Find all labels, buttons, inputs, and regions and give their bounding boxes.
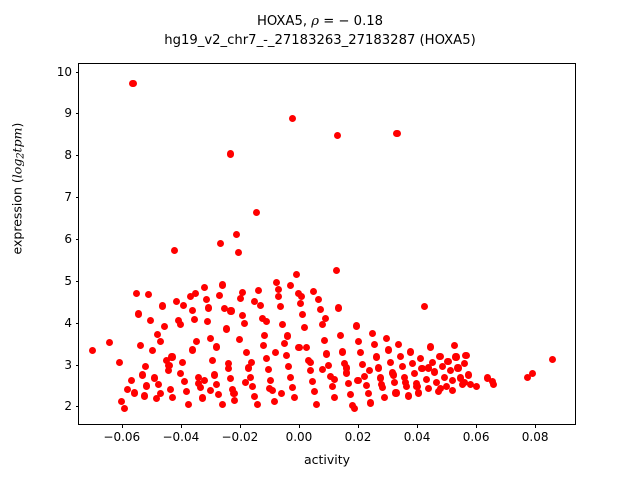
y-tick-label: 8 bbox=[64, 149, 72, 161]
scatter-point bbox=[309, 378, 316, 385]
scatter-point bbox=[353, 322, 360, 329]
scatter-point bbox=[287, 374, 294, 381]
scatter-point bbox=[248, 359, 255, 366]
scatter-point bbox=[413, 383, 420, 390]
scatter-point bbox=[284, 332, 291, 339]
scatter-point bbox=[490, 381, 497, 388]
x-axis-label: activity bbox=[78, 452, 576, 467]
scatter-point bbox=[417, 355, 424, 362]
scatter-point bbox=[139, 371, 146, 378]
scatter-point bbox=[207, 335, 214, 342]
scatter-point bbox=[179, 359, 186, 366]
scatter-point bbox=[209, 357, 216, 364]
title-gene: HOXA5, bbox=[257, 14, 311, 29]
scatter-point bbox=[367, 399, 374, 406]
scatter-point bbox=[216, 292, 223, 299]
scatter-point bbox=[447, 367, 454, 374]
y-tick-mark bbox=[76, 113, 80, 114]
scatter-point bbox=[325, 362, 332, 369]
scatter-point bbox=[263, 318, 270, 325]
scatter-point bbox=[213, 381, 220, 388]
scatter-point bbox=[277, 303, 284, 310]
scatter-point bbox=[135, 310, 142, 317]
scatter-point bbox=[301, 324, 308, 331]
scatter-point bbox=[203, 296, 210, 303]
scatter-point bbox=[157, 338, 164, 345]
scatter-point bbox=[437, 385, 444, 392]
y-tick-label: 5 bbox=[64, 275, 72, 287]
x-tick-label: 0.06 bbox=[463, 431, 490, 443]
y-tick-mark bbox=[76, 72, 80, 73]
x-tick-label: 0.02 bbox=[345, 431, 372, 443]
scatter-point bbox=[239, 289, 246, 296]
ylabel-tpm: tpm bbox=[9, 128, 24, 153]
y-tick-label: 7 bbox=[64, 191, 72, 203]
x-tick-label: −0.06 bbox=[103, 431, 140, 443]
scatter-point bbox=[267, 377, 274, 384]
scatter-point bbox=[289, 384, 296, 391]
scatter-point bbox=[339, 348, 346, 355]
y-tick-mark bbox=[76, 281, 80, 282]
scatter-point bbox=[211, 371, 218, 378]
title-line-2: hg19_v2_chr7_-_27183263_27183287 (HOXA5) bbox=[0, 31, 640, 50]
y-tick-label: 9 bbox=[64, 107, 72, 119]
scatter-point bbox=[89, 347, 96, 354]
scatter-point bbox=[289, 115, 296, 122]
scatter-point bbox=[393, 130, 400, 137]
scatter-point bbox=[363, 382, 370, 389]
scatter-point bbox=[357, 349, 364, 356]
scatter-point bbox=[149, 347, 156, 354]
scatter-point bbox=[118, 398, 125, 405]
scatter-point bbox=[407, 348, 414, 355]
x-tick-mark bbox=[299, 424, 300, 428]
x-tick-label: −0.04 bbox=[162, 431, 199, 443]
scatter-point bbox=[347, 391, 354, 398]
rho-value: = − 0.18 bbox=[319, 14, 383, 29]
scatter-point bbox=[275, 286, 282, 293]
scatter-point bbox=[323, 350, 330, 357]
scatter-point bbox=[449, 377, 456, 384]
scatter-point bbox=[193, 338, 200, 345]
scatter-point bbox=[291, 394, 298, 401]
scatter-point bbox=[223, 325, 230, 332]
scatter-point bbox=[261, 332, 268, 339]
scatter-point bbox=[230, 390, 237, 397]
scatter-point bbox=[331, 376, 338, 383]
scatter-point bbox=[311, 388, 318, 395]
scatter-point bbox=[129, 80, 136, 87]
scatter-point bbox=[257, 302, 264, 309]
scatter-point bbox=[141, 392, 148, 399]
scatter-point bbox=[271, 398, 278, 405]
scatter-point bbox=[251, 393, 258, 400]
scatter-point bbox=[322, 315, 329, 322]
scatter-point bbox=[307, 359, 314, 366]
scatter-plot-figure: HOXA5, ρ = − 0.18 hg19_v2_chr7_-_2718326… bbox=[0, 0, 640, 480]
scatter-point bbox=[415, 389, 422, 396]
scatter-point bbox=[263, 355, 270, 362]
scatter-point bbox=[298, 293, 305, 300]
scatter-point bbox=[381, 394, 388, 401]
x-tick-label: 0.00 bbox=[286, 431, 313, 443]
scatter-point bbox=[159, 302, 166, 309]
y-tick-label: 4 bbox=[64, 317, 72, 329]
scatter-point bbox=[265, 366, 272, 373]
y-tick-mark bbox=[76, 197, 80, 198]
scatter-point bbox=[204, 318, 211, 325]
scatter-point bbox=[177, 370, 184, 377]
scatter-point bbox=[423, 376, 430, 383]
scatter-point bbox=[425, 385, 432, 392]
scatter-point bbox=[189, 307, 196, 314]
scatter-point bbox=[395, 341, 402, 348]
scatter-point bbox=[167, 386, 174, 393]
scatter-point bbox=[335, 304, 342, 311]
scatter-point bbox=[421, 303, 428, 310]
scatter-point bbox=[452, 353, 459, 360]
scatter-point bbox=[355, 338, 362, 345]
scatter-point bbox=[334, 132, 341, 139]
scatter-point bbox=[142, 363, 149, 370]
scatter-point bbox=[392, 389, 399, 396]
scatter-point bbox=[273, 279, 280, 286]
scatter-point bbox=[345, 380, 352, 387]
scatter-point bbox=[303, 344, 310, 351]
scatter-point bbox=[397, 353, 404, 360]
x-tick-mark bbox=[240, 424, 241, 428]
scatter-point bbox=[299, 311, 306, 318]
scatter-point bbox=[427, 343, 434, 350]
x-tick-mark bbox=[476, 424, 477, 428]
scatter-point bbox=[387, 359, 394, 366]
scatter-point bbox=[371, 341, 378, 348]
scatter-point bbox=[275, 293, 282, 300]
scatter-point bbox=[239, 312, 246, 319]
ylabel-suffix: ) bbox=[9, 123, 24, 128]
scatter-point bbox=[329, 383, 336, 390]
x-tick-mark bbox=[181, 424, 182, 428]
plot-axes: 2345678910 −0.06−0.04−0.020.000.020.040.… bbox=[78, 63, 576, 425]
scatter-point bbox=[359, 361, 366, 368]
scatter-point bbox=[465, 371, 472, 378]
scatter-point bbox=[319, 321, 326, 328]
scatter-point bbox=[171, 247, 178, 254]
scatter-point bbox=[293, 271, 300, 278]
scatter-point bbox=[116, 359, 123, 366]
scatter-point bbox=[231, 397, 238, 404]
scatter-point bbox=[391, 379, 398, 386]
scatter-point bbox=[183, 388, 190, 395]
scatter-point bbox=[145, 291, 152, 298]
scatter-point bbox=[106, 339, 113, 346]
ylabel-log: log bbox=[9, 159, 24, 179]
scatter-point bbox=[169, 394, 176, 401]
ylabel-subscript: 2 bbox=[16, 152, 27, 158]
scatter-point bbox=[199, 394, 206, 401]
scatter-point bbox=[236, 336, 243, 343]
scatter-point bbox=[287, 282, 294, 289]
ylabel-prefix: expression ( bbox=[9, 178, 24, 254]
scatter-point bbox=[373, 353, 380, 360]
scatter-point bbox=[177, 321, 184, 328]
scatter-point bbox=[201, 284, 208, 291]
scatter-point bbox=[161, 323, 168, 330]
scatter-point bbox=[272, 349, 279, 356]
y-tick-label: 6 bbox=[64, 233, 72, 245]
scatter-point bbox=[462, 352, 469, 359]
scatter-point bbox=[402, 379, 409, 386]
scatter-point bbox=[451, 342, 458, 349]
scatter-point bbox=[241, 320, 248, 327]
scatter-point bbox=[143, 382, 150, 389]
scatter-point bbox=[331, 394, 338, 401]
scatter-point bbox=[154, 331, 161, 338]
scatter-point bbox=[225, 365, 232, 372]
scatter-point bbox=[310, 288, 317, 295]
scatter-point bbox=[369, 330, 376, 337]
scatter-point bbox=[441, 374, 448, 381]
scatter-point bbox=[295, 344, 302, 351]
scatter-point bbox=[313, 401, 320, 408]
title-line-1: HOXA5, ρ = − 0.18 bbox=[0, 12, 640, 31]
x-tick-mark bbox=[122, 424, 123, 428]
scatter-point bbox=[390, 371, 397, 378]
scatter-point bbox=[343, 364, 350, 371]
scatter-point bbox=[449, 387, 456, 394]
scatter-point bbox=[260, 342, 267, 349]
scatter-point bbox=[278, 390, 285, 397]
scatter-point bbox=[461, 360, 468, 367]
scatter-point bbox=[133, 290, 140, 297]
y-tick-mark bbox=[76, 239, 80, 240]
scatter-point bbox=[365, 390, 372, 397]
scatter-point bbox=[315, 296, 322, 303]
scatter-point bbox=[366, 367, 373, 374]
y-tick-label: 3 bbox=[64, 359, 72, 371]
scatter-point bbox=[219, 281, 226, 288]
scatter-point bbox=[285, 363, 292, 370]
scatter-point bbox=[147, 317, 154, 324]
scatter-point bbox=[215, 391, 222, 398]
scatter-point bbox=[219, 401, 226, 408]
scatter-point bbox=[227, 375, 234, 382]
rho-symbol: ρ bbox=[311, 14, 319, 29]
scatter-point bbox=[321, 337, 328, 344]
x-tick-label: 0.04 bbox=[404, 431, 431, 443]
y-tick-mark bbox=[76, 406, 80, 407]
scatter-point bbox=[436, 353, 443, 360]
y-axis-label: expression (log2tpm) bbox=[9, 79, 26, 299]
scatter-point bbox=[180, 302, 187, 309]
scatter-point bbox=[317, 306, 324, 313]
scatter-points-layer bbox=[79, 64, 575, 424]
scatter-point bbox=[409, 360, 416, 367]
scatter-point bbox=[399, 363, 406, 370]
scatter-point bbox=[375, 364, 382, 371]
scatter-point bbox=[217, 240, 224, 247]
y-tick-mark bbox=[76, 323, 80, 324]
scatter-point bbox=[411, 370, 418, 377]
scatter-point bbox=[233, 231, 240, 238]
scatter-point bbox=[425, 364, 432, 371]
x-tick-mark bbox=[417, 424, 418, 428]
scatter-point bbox=[383, 335, 390, 342]
x-tick-mark bbox=[358, 424, 359, 428]
scatter-point bbox=[189, 346, 196, 353]
scatter-point bbox=[128, 377, 135, 384]
scatter-point bbox=[137, 342, 144, 349]
scatter-point bbox=[307, 367, 314, 374]
scatter-point bbox=[361, 373, 368, 380]
x-tick-label: −0.02 bbox=[222, 431, 259, 443]
scatter-point bbox=[121, 405, 128, 412]
scatter-point bbox=[385, 346, 392, 353]
scatter-point bbox=[255, 287, 262, 294]
scatter-point bbox=[549, 356, 556, 363]
scatter-point bbox=[529, 370, 536, 377]
scatter-point bbox=[354, 377, 361, 384]
chart-title: HOXA5, ρ = − 0.18 hg19_v2_chr7_-_2718326… bbox=[0, 12, 640, 50]
scatter-point bbox=[213, 343, 220, 350]
y-tick-label: 2 bbox=[64, 400, 72, 412]
scatter-point bbox=[227, 150, 234, 157]
scatter-point bbox=[405, 392, 412, 399]
scatter-point bbox=[254, 401, 261, 408]
scatter-point bbox=[297, 300, 304, 307]
scatter-point bbox=[281, 340, 288, 347]
scatter-point bbox=[155, 381, 162, 388]
y-tick-mark bbox=[76, 155, 80, 156]
scatter-point bbox=[191, 316, 198, 323]
x-tick-label: 0.08 bbox=[522, 431, 549, 443]
scatter-point bbox=[168, 353, 175, 360]
y-tick-mark bbox=[76, 365, 80, 366]
y-tick-label: 10 bbox=[57, 66, 72, 78]
scatter-point bbox=[337, 332, 344, 339]
scatter-point bbox=[235, 249, 242, 256]
scatter-point bbox=[249, 383, 256, 390]
scatter-point bbox=[131, 389, 138, 396]
scatter-point bbox=[185, 401, 192, 408]
scatter-point bbox=[157, 390, 164, 397]
scatter-point bbox=[473, 383, 480, 390]
scatter-point bbox=[444, 358, 451, 365]
scatter-point bbox=[319, 366, 326, 373]
scatter-point bbox=[165, 362, 172, 369]
scatter-point bbox=[351, 405, 358, 412]
x-tick-mark bbox=[535, 424, 536, 428]
scatter-point bbox=[181, 378, 188, 385]
scatter-point bbox=[205, 304, 212, 311]
scatter-point bbox=[192, 290, 199, 297]
scatter-point bbox=[227, 307, 234, 314]
scatter-point bbox=[283, 352, 290, 359]
scatter-point bbox=[243, 349, 250, 356]
scatter-point bbox=[253, 209, 260, 216]
scatter-point bbox=[279, 321, 286, 328]
scatter-point bbox=[333, 267, 340, 274]
scatter-point bbox=[207, 387, 214, 394]
